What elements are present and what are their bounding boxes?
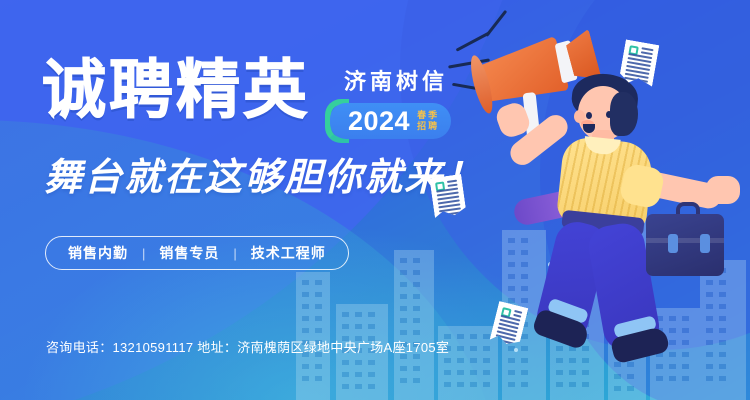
document-text-line — [447, 180, 457, 183]
briefcase-clasp — [700, 234, 710, 253]
brand-block: 济南树信 2024 春 季 招 聘 — [330, 64, 451, 139]
badge-year-label: 2024 — [348, 108, 410, 135]
badge-sub-char: 聘 — [428, 122, 437, 131]
positions-list: 销售内勤 | 销售专员 | 技术工程师 — [45, 236, 349, 270]
position-item-2: 销售专员 — [159, 243, 219, 263]
badge-body: 2024 春 季 招 聘 — [330, 103, 451, 139]
position-item-1: 销售内勤 — [68, 243, 128, 263]
hair-back — [610, 92, 638, 136]
right-hand — [706, 176, 740, 204]
badge-sub-char: 季 — [428, 111, 437, 120]
illustration — [450, 0, 750, 400]
briefcase-icon — [646, 214, 724, 276]
company-name: 济南树信 — [330, 64, 448, 96]
badge-subtitle: 春 季 招 聘 — [417, 111, 437, 131]
position-separator: | — [233, 246, 236, 261]
contact-info: 咨询电话：13210591117 地址：济南槐荫区绿地中央广场A座1705室 — [46, 337, 449, 356]
document-text-line — [513, 314, 521, 318]
document-text-line — [447, 184, 457, 187]
document-icon — [490, 301, 529, 347]
subheadline: 舞台就在这够胆你就来！ — [44, 158, 484, 200]
briefcase-band — [646, 238, 724, 243]
document-text-line — [514, 310, 522, 314]
eye — [586, 112, 592, 119]
position-separator: | — [142, 246, 145, 261]
year-badge: 2024 春 季 招 聘 — [330, 103, 451, 139]
document-icon — [429, 174, 466, 218]
badge-sub-char: 招 — [417, 122, 426, 131]
position-item-3: 技术工程师 — [251, 243, 326, 263]
briefcase-clasp — [668, 234, 678, 253]
page-title: 诚聘精英 — [42, 58, 310, 122]
recruitment-banner: 诚聘精英 济南树信 2024 春 季 招 聘 — [0, 0, 750, 400]
megaphone-sound-line — [485, 10, 507, 37]
badge-sub-char: 春 — [417, 111, 426, 120]
headline-block: 诚聘精英 济南树信 2024 春 季 招 聘 — [42, 58, 451, 139]
